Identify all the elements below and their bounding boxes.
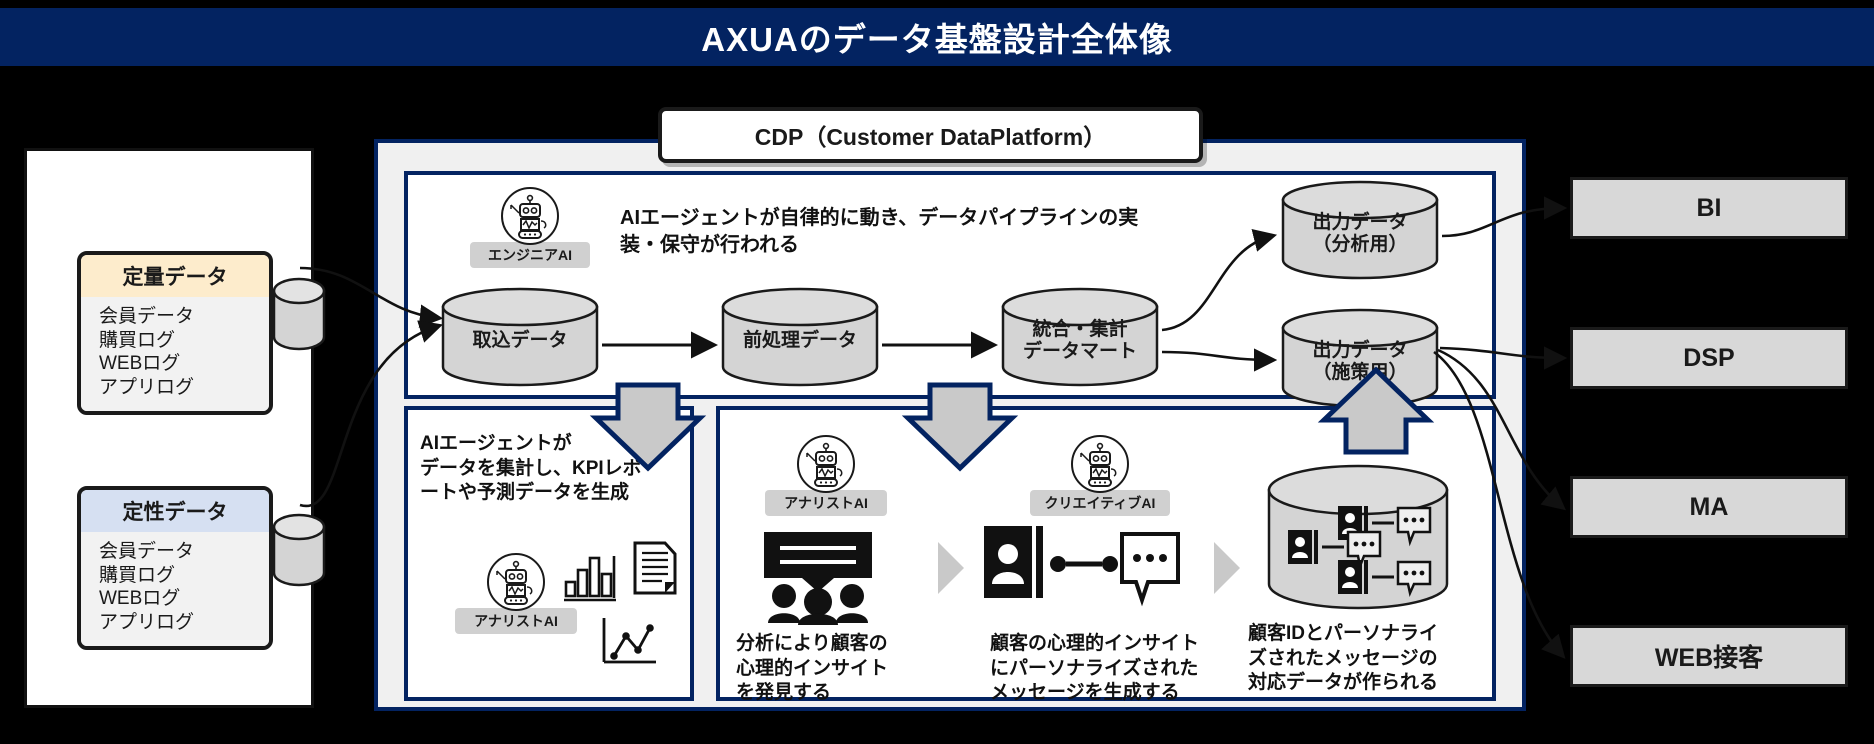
insight-column-2-caption: 顧客の心理的インサイト にパーソナライズされた メッセージを生成する — [990, 632, 1240, 706]
audience-speech-icon — [758, 530, 878, 630]
document-icon — [632, 540, 678, 601]
output-campaign-line2: （施策用） — [1312, 362, 1407, 384]
robot-icon — [486, 552, 546, 612]
output-campaign-line1: 出力データ — [1312, 340, 1407, 362]
analysis-panel-text: AIエージェントが データを集計し、KPIレポ ートや予測データを生成 — [420, 432, 670, 506]
output-cylinder-analytics-label: 出力データ （分析用） — [1280, 180, 1440, 280]
pipeline-note: AIエージェントが自律的に動き、データパイプラインの実装・保守が行われる — [620, 205, 1140, 259]
agent-badge-engineer-label: エンジニアAI — [470, 242, 590, 268]
source-card-qualitative-title: 定性データ — [81, 490, 269, 532]
stage-cylinder-preprocess: 前処理データ — [720, 287, 880, 387]
agent-badge-analyst-label: アナリストAI — [765, 490, 887, 516]
analysis-text-line3: ートや予測データを生成 — [420, 481, 670, 506]
caption-line: ズされたメッセージの — [1248, 647, 1498, 672]
flow-triangle-icon — [1212, 540, 1242, 601]
database-cylinder-icon — [272, 277, 326, 351]
stage-cylinder-datamart: 統合・集計 データマート — [1000, 287, 1160, 387]
output-cylinder-campaign-label: 出力データ （施策用） — [1280, 308, 1440, 408]
list-item: WEBログ — [99, 587, 269, 611]
database-cylinder-icon — [272, 513, 326, 587]
cdp-tab-label: CDP（Customer DataPlatform） — [755, 118, 1106, 152]
list-item: WEBログ — [99, 352, 269, 376]
stage-cylinder-datamart-label: 統合・集計 データマート — [1000, 287, 1160, 387]
list-item: アプリログ — [99, 376, 269, 400]
caption-line: 心理的インサイト — [736, 657, 951, 682]
output-cylinder-campaign: 出力データ （施策用） — [1280, 308, 1440, 408]
customer-message-store-icon — [1266, 464, 1450, 615]
stage-cylinder-preprocess-label: 前処理データ — [720, 287, 880, 387]
page-title-bar: AXUAのデータ基盤設計全体像 — [0, 8, 1874, 66]
robot-icon — [500, 186, 560, 246]
analysis-text-line1: AIエージェントが — [420, 432, 670, 457]
stage-cylinder-ingest-label: 取込データ — [440, 287, 600, 387]
caption-line: にパーソナライズされた — [990, 657, 1240, 682]
datamart-label-line1: 統合・集計 — [1032, 319, 1127, 341]
source-card-quantitative: 定量データ 会員データ 購買ログ WEBログ アプリログ — [77, 251, 273, 415]
page-title: AXUAのデータ基盤設計全体像 — [701, 13, 1173, 61]
destination-box-bi[interactable]: BI — [1570, 177, 1848, 239]
agent-badge-creative-label: クリエイティブAI — [1030, 490, 1170, 516]
output-analytics-line1: 出力データ — [1312, 212, 1407, 234]
list-item: 購買ログ — [99, 329, 269, 353]
source-data-panel: 定量データ 会員データ 購買ログ WEBログ アプリログ 定性データ 会員データ… — [24, 148, 314, 708]
agent-badge-engineer: エンジニアAI — [470, 186, 590, 268]
output-analytics-line2: （分析用） — [1312, 234, 1407, 256]
source-card-qualitative: 定性データ 会員データ 購買ログ WEBログ アプリログ — [77, 486, 273, 650]
destination-box-dsp-label: DSP — [1683, 344, 1734, 373]
caption-line: を発見する — [736, 681, 951, 706]
caption-line: 対応データが作られる — [1248, 671, 1498, 696]
contact-to-message-icon — [982, 518, 1182, 623]
insight-column-1-caption: 分析により顧客の 心理的インサイト を発見する — [736, 632, 951, 706]
destination-box-ma-label: MA — [1690, 493, 1729, 522]
robot-icon — [796, 434, 856, 494]
list-item: 会員データ — [99, 540, 269, 564]
source-card-qualitative-items: 会員データ 購買ログ WEBログ アプリログ — [81, 532, 269, 646]
caption-line: メッセージを生成する — [990, 681, 1240, 706]
datamart-label-line2: データマート — [1023, 341, 1137, 363]
destination-box-ma[interactable]: MA — [1570, 476, 1848, 538]
insight-column-3-caption: 顧客IDとパーソナライ ズされたメッセージの 対応データが作られる — [1248, 622, 1498, 696]
agent-badge-analyst-left: アナリストAI — [455, 552, 577, 634]
destination-box-dsp[interactable]: DSP — [1570, 327, 1848, 389]
cdp-tab: CDP（Customer DataPlatform） — [658, 107, 1203, 163]
caption-line: 顧客の心理的インサイト — [990, 632, 1240, 657]
agent-badge-analyst-left-label: アナリストAI — [455, 608, 577, 634]
robot-icon — [1070, 434, 1130, 494]
destination-box-bi-label: BI — [1697, 194, 1722, 223]
destination-box-web-label: WEB接客 — [1655, 638, 1763, 674]
caption-line: 顧客IDとパーソナライ — [1248, 622, 1498, 647]
bar-chart-icon — [562, 548, 626, 609]
output-cylinder-analytics: 出力データ （分析用） — [1280, 180, 1440, 280]
source-card-quantitative-title: 定量データ — [81, 255, 269, 297]
agent-badge-creative: クリエイティブAI — [1030, 434, 1170, 516]
list-item: 会員データ — [99, 305, 269, 329]
line-chart-icon — [598, 614, 660, 675]
source-card-quantitative-items: 会員データ 購買ログ WEBログ アプリログ — [81, 297, 269, 411]
list-item: 購買ログ — [99, 564, 269, 588]
stage-cylinder-ingest: 取込データ — [440, 287, 600, 387]
diagram-canvas: AXUAのデータ基盤設計全体像 定量データ 会員データ 購買ログ WEBログ ア… — [0, 0, 1874, 744]
analysis-text-line2: データを集計し、KPIレポ — [420, 457, 670, 482]
list-item: アプリログ — [99, 611, 269, 635]
destination-box-web[interactable]: WEB接客 — [1570, 625, 1848, 687]
agent-badge-analyst: アナリストAI — [765, 434, 887, 516]
flow-triangle-icon — [936, 540, 966, 601]
caption-line: 分析により顧客の — [736, 632, 951, 657]
